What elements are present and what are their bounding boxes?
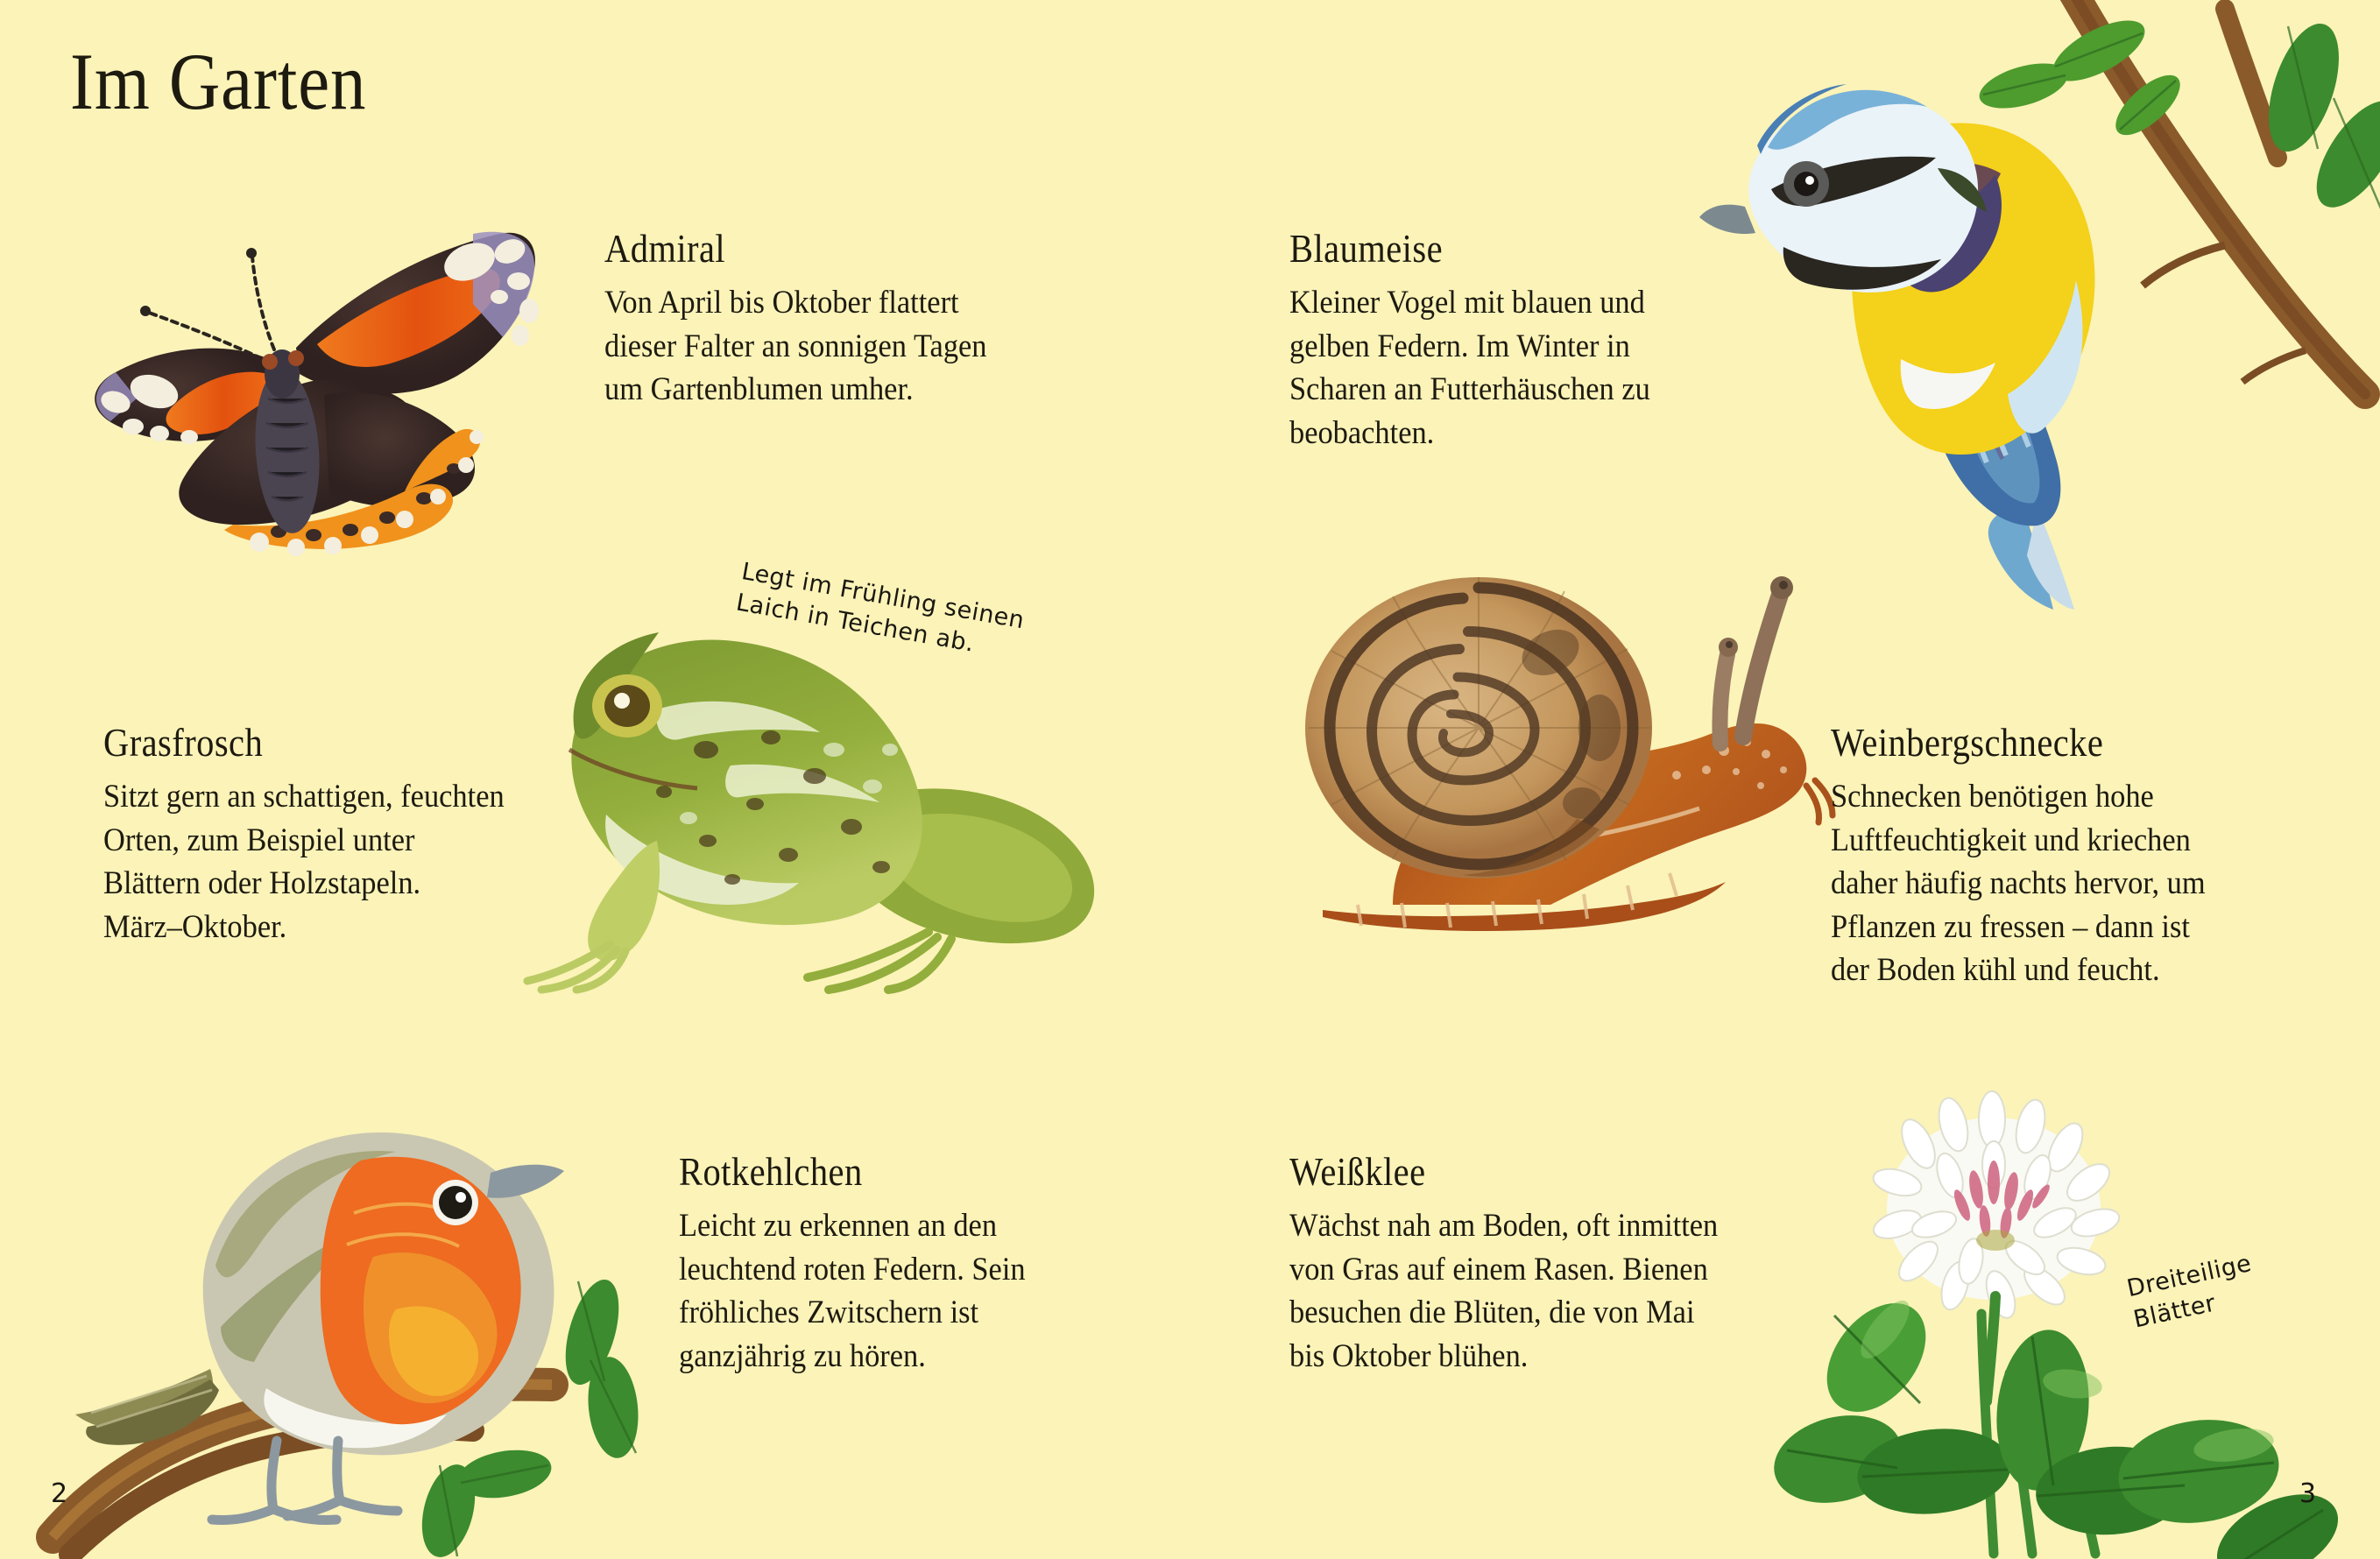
entry-body-grasfrosch: Sitzt gern an schattigen, feuchten Orten… <box>103 775 576 949</box>
plant-white-clover-illustration <box>1822 1095 2365 1559</box>
body-line: Von April bis Oktober flattert <box>604 281 1061 325</box>
body-line: Sitzt gern an schattigen, feuchten <box>103 775 576 819</box>
snail-illustration <box>1288 556 1866 942</box>
bird-robin-illustration <box>53 1064 683 1555</box>
body-line: Wächst nah am Boden, oft inmitten <box>1289 1204 1778 1248</box>
entry-title-grasfrosch: Grasfrosch <box>103 720 561 765</box>
butterfly-red-admiral-illustration <box>61 188 569 556</box>
book-spread: Im Garten <box>0 0 2380 1552</box>
body-line: Schnecken benötigen hohe <box>1831 775 2303 819</box>
body-line: besuchen die Blüten, die von Mai <box>1289 1291 1778 1335</box>
body-line: der Boden kühl und feucht. <box>1831 949 2303 992</box>
entry-admiral: Admiral Von April bis Oktober flattert d… <box>604 226 1095 412</box>
body-line: Leicht zu erkennen an den <box>679 1204 1135 1248</box>
entry-body-admiral: Von April bis Oktober flattert dieser Fa… <box>604 281 1061 412</box>
entry-body-weinbergschnecke: Schnecken benötigen hohe Luftfeuchtigkei… <box>1831 775 2303 992</box>
entry-title-admiral: Admiral <box>604 226 1046 272</box>
body-line: Pflanzen zu fressen – dann ist <box>1831 906 2303 949</box>
page-title: Im Garten <box>70 35 366 128</box>
entry-body-rotkehlchen: Leicht zu erkennen an den leuchtend rote… <box>679 1204 1135 1378</box>
entry-weissklee: Weißklee Wächst nah am Boden, oft inmitt… <box>1289 1149 1815 1378</box>
body-line: dieser Falter an sonnigen Tagen <box>604 325 1061 369</box>
body-line: daher häufig nachts hervor, um <box>1831 862 2303 906</box>
entry-title-rotkehlchen: Rotkehlchen <box>679 1149 1120 1195</box>
entry-body-weissklee: Wächst nah am Boden, oft inmitten von Gr… <box>1289 1204 1778 1378</box>
body-line: Luftfeuchtigkeit und kriechen <box>1831 819 2303 863</box>
page-number-left: 2 <box>51 1478 67 1509</box>
body-line: ganzjährig zu hören. <box>679 1335 1135 1379</box>
frog-illustration <box>526 578 1174 990</box>
body-line: März–Oktober. <box>103 906 576 949</box>
bird-blue-tit-illustration <box>1612 0 2380 613</box>
body-line: bis Oktober blühen. <box>1289 1335 1778 1379</box>
entry-title-weissklee: Weißklee <box>1289 1149 1762 1195</box>
body-line: von Gras auf einem Rasen. Bienen <box>1289 1248 1778 1292</box>
entry-grasfrosch: Grasfrosch Sitzt gern an schattigen, feu… <box>103 720 611 949</box>
entry-rotkehlchen: Rotkehlchen Leicht zu erkennen an den le… <box>679 1149 1169 1378</box>
body-line: fröhliches Zwitschern ist <box>679 1291 1135 1335</box>
body-line: Orten, zum Beispiel unter <box>103 819 576 863</box>
body-line: um Gartenblumen umher. <box>604 368 1061 412</box>
entry-title-weinbergschnecke: Weinbergschnecke <box>1831 720 2288 765</box>
page-number-right: 3 <box>2299 1478 2316 1509</box>
entry-weinbergschnecke: Weinbergschnecke Schnecken benötigen hoh… <box>1831 720 2339 992</box>
body-line: leuchtend roten Federn. Sein <box>679 1248 1135 1292</box>
body-line: Blättern oder Holzstapeln. <box>103 862 576 906</box>
